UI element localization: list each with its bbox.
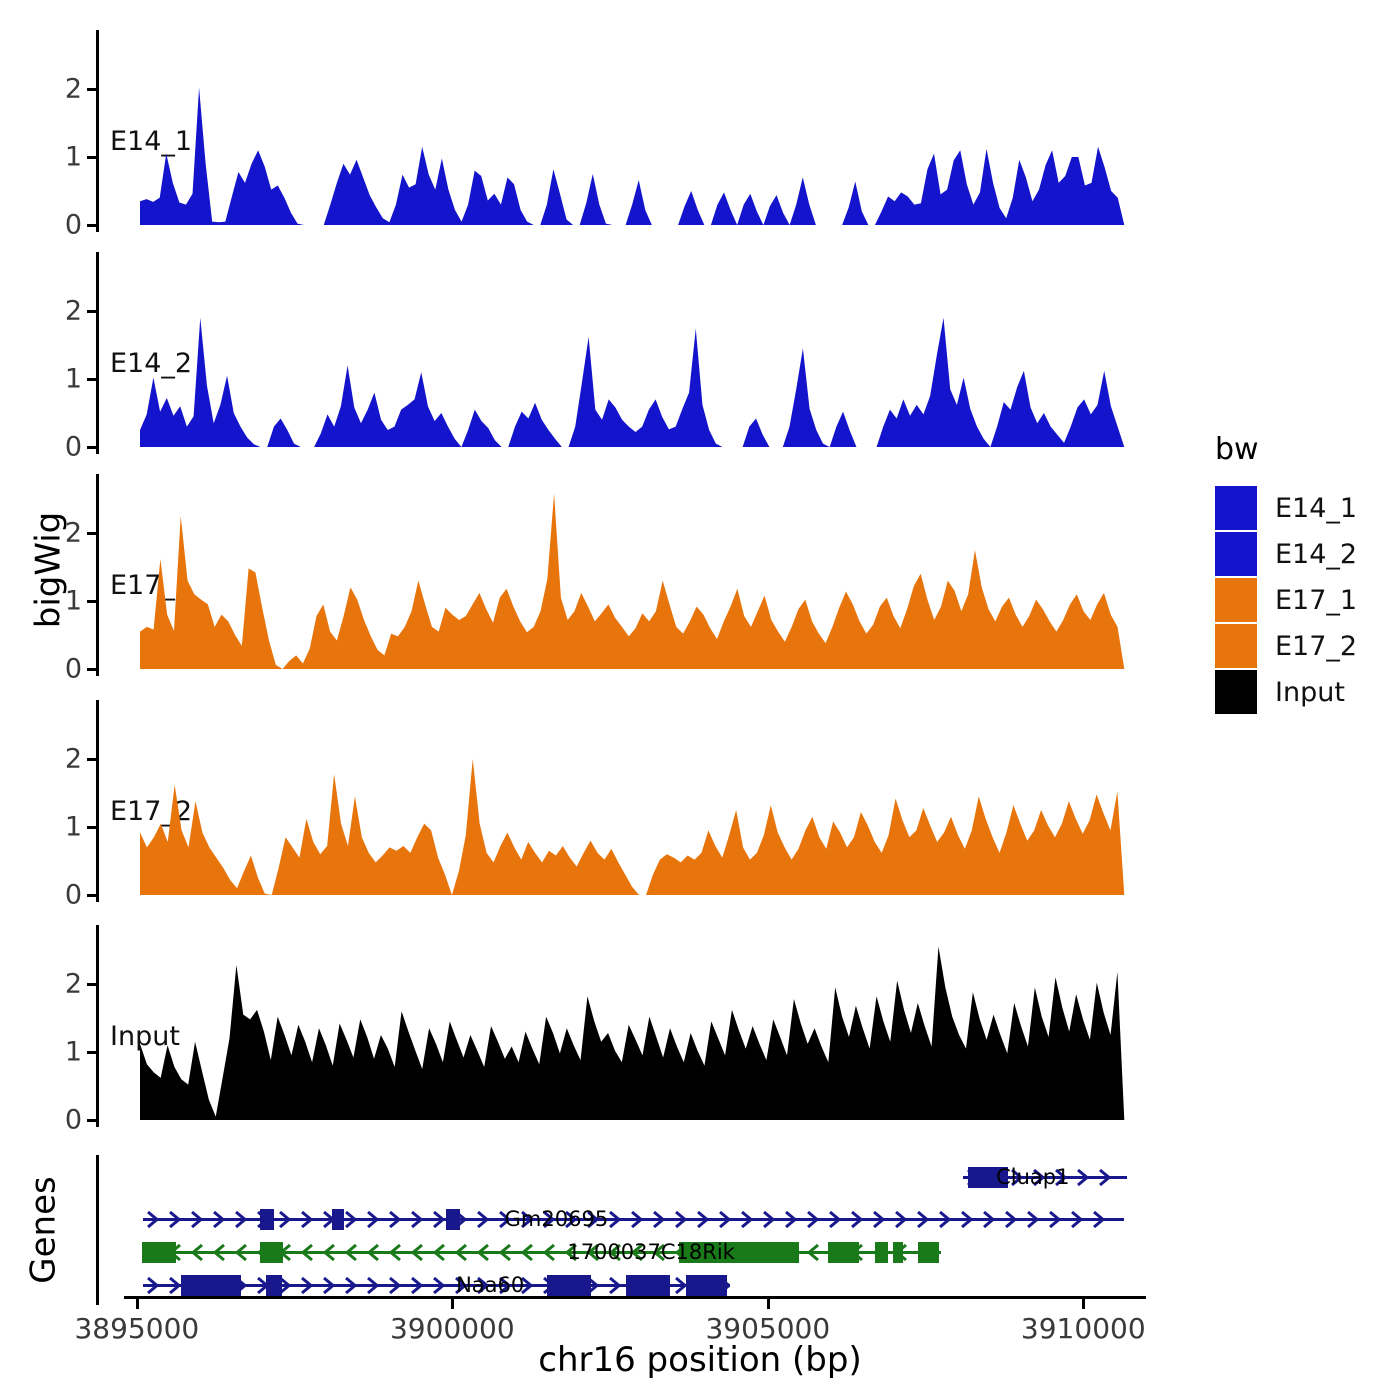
x-tick <box>767 1299 770 1309</box>
gene-exon <box>266 1275 282 1296</box>
x-tick <box>1082 1299 1085 1309</box>
gene-exon <box>260 1209 275 1230</box>
track-panel-e14_1: 012E14_1 <box>96 30 1166 232</box>
gene-exon <box>142 1242 176 1263</box>
signal-area-e17_2 <box>140 759 1124 895</box>
legend-item-e14_1[interactable]: E14_1 <box>1215 485 1357 531</box>
legend-swatch-e17_1 <box>1215 578 1257 622</box>
gene-exon <box>875 1242 888 1263</box>
x-tick <box>136 1299 139 1309</box>
gene-label-1700037c18rik: 1700037C18Rik <box>567 1240 735 1264</box>
genes-axis-spine <box>96 1155 99 1305</box>
legend-swatch-input <box>1215 670 1257 714</box>
gene-exon <box>893 1242 904 1263</box>
y-tick-label: 1 <box>65 364 82 395</box>
signal-plot-area <box>99 700 1159 902</box>
y-tick-label: 1 <box>65 1037 82 1068</box>
y-tick-label: 0 <box>65 432 82 463</box>
legend-item-input[interactable]: Input <box>1215 669 1357 715</box>
y-axis-label-bigwig-text: bigWig <box>28 512 68 629</box>
signal-plot-area <box>99 925 1159 1127</box>
y-axis-label-genes: Genes <box>14 1155 74 1305</box>
gene-label-cluap1: Cluap1 <box>996 1165 1069 1189</box>
gene-exon <box>260 1242 283 1263</box>
y-tick <box>87 668 96 671</box>
legend-item-e17_2[interactable]: E17_2 <box>1215 623 1357 669</box>
legend: bw E14_1E14_2E17_1E17_2Input <box>1215 432 1357 715</box>
gene-exon <box>686 1275 727 1296</box>
x-axis-line <box>124 1296 1146 1299</box>
signal-area-input <box>140 947 1124 1120</box>
legend-label-e17_2: E17_2 <box>1275 631 1357 662</box>
gene-exon <box>828 1242 860 1263</box>
y-tick <box>87 826 96 829</box>
x-tick <box>451 1299 454 1309</box>
y-tick <box>87 156 96 159</box>
y-tick <box>87 310 96 313</box>
y-tick <box>87 446 96 449</box>
legend-title: bw <box>1215 432 1357 467</box>
track-panel-e17_1: 012E17_1 <box>96 474 1166 676</box>
legend-swatch-e14_1 <box>1215 486 1257 530</box>
legend-label-input: Input <box>1275 677 1345 708</box>
legend-swatch-e14_2 <box>1215 532 1257 576</box>
y-axis-label-genes-text: Genes <box>24 1176 64 1283</box>
y-tick-label: 0 <box>65 880 82 911</box>
signal-area-e17_1 <box>140 494 1124 669</box>
legend-label-e14_1: E14_1 <box>1275 493 1357 524</box>
gene-exon <box>918 1242 939 1263</box>
y-tick-label: 0 <box>65 1105 82 1136</box>
gene-row-gm20695[interactable] <box>143 1207 1124 1233</box>
y-tick-label: 0 <box>65 210 82 241</box>
y-tick <box>87 1051 96 1054</box>
y-tick-label: 1 <box>65 142 82 173</box>
y-tick-label: 2 <box>65 74 82 105</box>
x-axis-title: chr16 position (bp) <box>0 1340 1400 1380</box>
strand-arrows-icon <box>143 1207 1124 1233</box>
y-tick <box>87 894 96 897</box>
genes-panel: Cluap1Gm206951700037C18RikNaa60 <box>96 1155 1166 1305</box>
signal-plot-area <box>99 30 1159 232</box>
y-tick-label: 0 <box>65 654 82 685</box>
y-tick <box>87 88 96 91</box>
figure-root: bigWig Genes 012E14_1012E14_2012E17_1012… <box>0 0 1400 1400</box>
y-tick-label: 1 <box>65 812 82 843</box>
y-tick <box>87 983 96 986</box>
y-tick <box>87 758 96 761</box>
y-tick-label: 1 <box>65 586 82 617</box>
y-tick <box>87 378 96 381</box>
gene-row-1700037c18rik[interactable] <box>143 1240 941 1266</box>
gene-label-naa60: Naa60 <box>456 1273 524 1297</box>
legend-entries: E14_1E14_2E17_1E17_2Input <box>1215 485 1357 715</box>
legend-item-e17_1[interactable]: E17_1 <box>1215 577 1357 623</box>
gene-exon <box>181 1275 241 1296</box>
legend-swatch-e17_2 <box>1215 624 1257 668</box>
gene-label-gm20695: Gm20695 <box>505 1207 609 1231</box>
y-tick <box>87 224 96 227</box>
signal-plot-area <box>99 474 1159 676</box>
y-tick <box>87 532 96 535</box>
legend-item-e14_2[interactable]: E14_2 <box>1215 531 1357 577</box>
y-tick-label: 2 <box>65 744 82 775</box>
track-panel-e17_2: 012E17_2 <box>96 700 1166 902</box>
gene-exon <box>446 1209 460 1230</box>
track-panel-input: 012Input <box>96 925 1166 1127</box>
y-tick <box>87 1119 96 1122</box>
y-tick <box>87 600 96 603</box>
track-panel-e14_2: 012E14_2 <box>96 252 1166 454</box>
signal-area-e14_1 <box>140 88 1124 225</box>
signal-plot-area <box>99 252 1159 454</box>
signal-area-e14_2 <box>140 318 1124 447</box>
gene-exon <box>626 1275 670 1296</box>
gene-exon <box>547 1275 591 1296</box>
y-tick-label: 2 <box>65 969 82 1000</box>
legend-label-e14_2: E14_2 <box>1275 539 1357 570</box>
legend-label-e17_1: E17_1 <box>1275 585 1357 616</box>
y-tick-label: 2 <box>65 296 82 327</box>
gene-exon <box>332 1209 344 1230</box>
y-tick-label: 2 <box>65 518 82 549</box>
